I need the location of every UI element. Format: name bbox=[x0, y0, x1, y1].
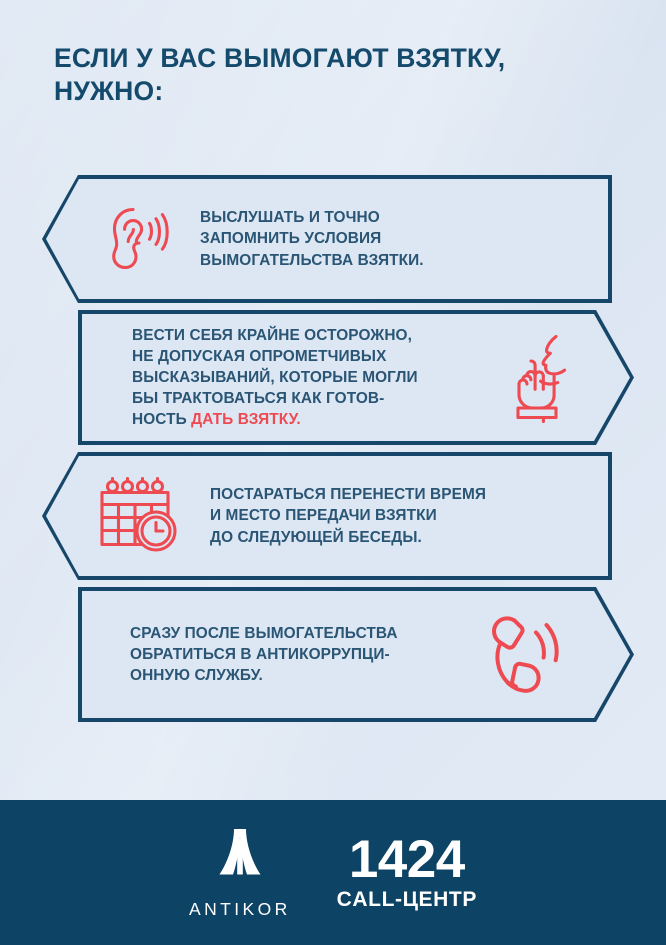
page-title: ЕСЛИ У ВАС ВЫМОГАЮТ ВЗЯТКУ, НУЖНО: bbox=[54, 42, 634, 108]
ear-icon bbox=[94, 200, 172, 278]
step-4-text: СРАЗУ ПОСЛЕ ВЫМОГАТЕЛЬСТВА ОБРАТИТЬСЯ В … bbox=[130, 623, 398, 686]
brand-name: ANTIKOR bbox=[189, 899, 291, 920]
steps-list: ВЫСЛУШАТЬ И ТОЧНО ЗАПОМНИТЬ УСЛОВИЯ ВЫМО… bbox=[0, 175, 666, 735]
antikor-a-logo-icon bbox=[209, 825, 271, 892]
phone-handset-ringing-icon bbox=[484, 610, 568, 700]
call-center-label: CALL-ЦЕНТР bbox=[337, 888, 477, 912]
step-card-4: СРАЗУ ПОСЛЕ ВЫМОГАТЕЛЬСТВА ОБРАТИТЬСЯ В … bbox=[78, 587, 634, 722]
step-2-text-accent: ДАТЬ ВЗЯТКУ. bbox=[191, 411, 301, 428]
calendar-clock-icon bbox=[96, 476, 182, 556]
step-2-text: ВЕСТИ СЕБЯ КРАЙНЕ ОСТОРОЖНО, НЕ ДОПУСКАЯ… bbox=[132, 325, 418, 430]
step-card-1: ВЫСЛУШАТЬ И ТОЧНО ЗАПОМНИТЬ УСЛОВИЯ ВЫМО… bbox=[42, 175, 612, 303]
footer-bar: ANTIKOR 1424 CALL-ЦЕНТР bbox=[0, 800, 666, 945]
poster-root: ЕСЛИ У ВАС ВЫМОГАЮТ ВЗЯТКУ, НУЖНО: ВЫСЛУ… bbox=[0, 0, 666, 945]
call-center-number: 1424 bbox=[349, 833, 465, 886]
step-3-text: ПОСТАРАТЬСЯ ПЕРЕНЕСТИ ВРЕМЯ И МЕСТО ПЕРЕ… bbox=[210, 484, 486, 547]
brand-block: ANTIKOR bbox=[189, 825, 291, 920]
step-card-2: ВЕСТИ СЕБЯ КРАЙНЕ ОСТОРОЖНО, НЕ ДОПУСКАЯ… bbox=[78, 310, 634, 445]
call-center-block: 1424 CALL-ЦЕНТР bbox=[337, 833, 477, 912]
step-card-3: ПОСТАРАТЬСЯ ПЕРЕНЕСТИ ВРЕМЯ И МЕСТО ПЕРЕ… bbox=[42, 452, 612, 580]
step-1-text: ВЫСЛУШАТЬ И ТОЧНО ЗАПОМНИТЬ УСЛОВИЯ ВЫМО… bbox=[200, 207, 424, 270]
finger-to-lips-silence-icon bbox=[494, 330, 580, 426]
